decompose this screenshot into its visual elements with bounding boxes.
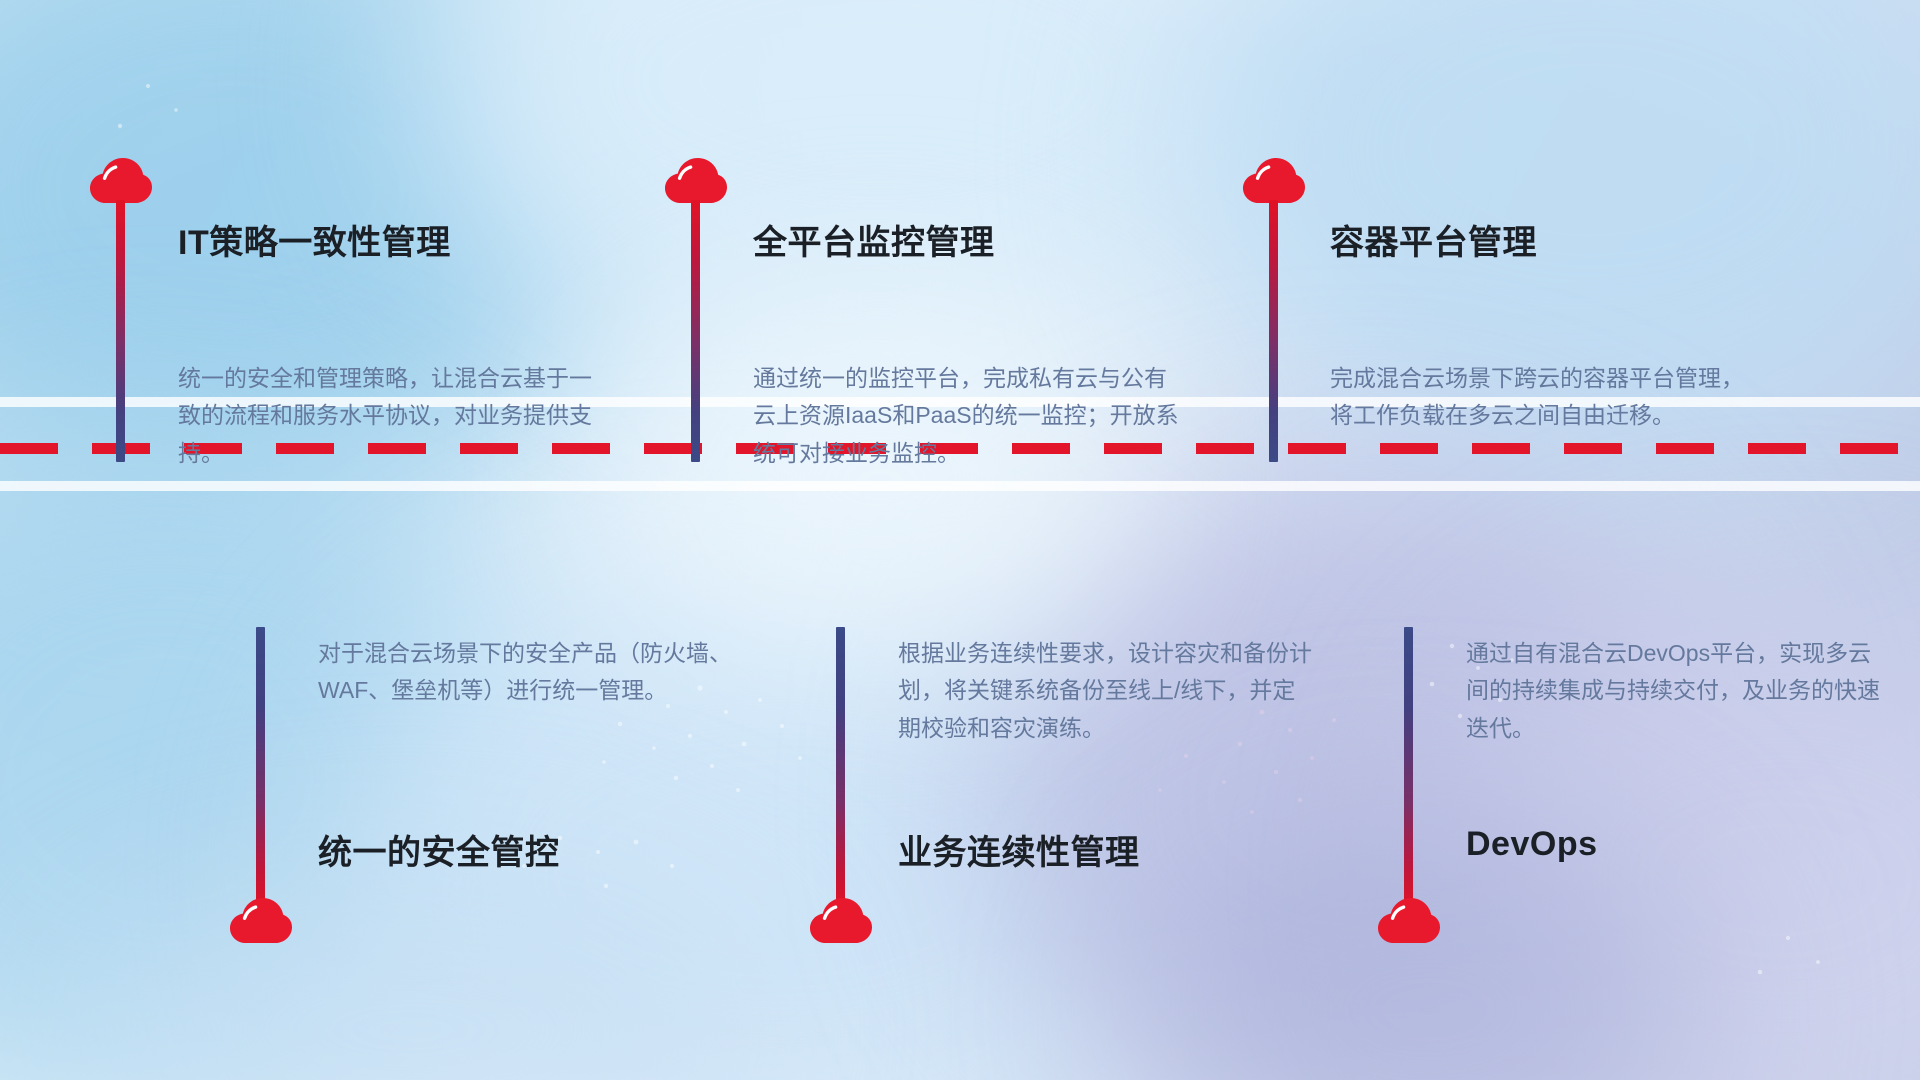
cloud-icon [230,898,292,944]
item-description: 完成混合云场景下跨云的容器平台管理，将工作负载在多云之间自由迁移。 [1330,360,1750,435]
item-title: DevOps [1466,825,1598,864]
timeline-stem [256,627,265,912]
cloud-icon [1243,158,1305,204]
item-title: 业务连续性管理 [898,825,1140,874]
timeline-stem [691,200,700,462]
divider-white-band-bottom [0,481,1920,491]
item-title: IT策略一致性管理 [178,215,451,264]
item-title: 容器平台管理 [1330,215,1537,264]
cloud-icon [1378,898,1440,944]
timeline-stem [116,200,125,462]
item-description: 统一的安全和管理策略，让混合云基于一致的流程和服务水平协议，对业务提供支持。 [178,360,598,472]
item-description: 对于混合云场景下的安全产品（防火墙、WAF、堡垒机等）进行统一管理。 [318,635,738,710]
item-description: 通过统一的监控平台，完成私有云与公有云上资源IaaS和PaaS的统一监控；开放系… [753,360,1188,472]
timeline-stem [836,627,845,912]
item-title: 统一的安全管控 [318,825,560,874]
cloud-icon [810,898,872,944]
timeline-stem [1269,200,1278,462]
item-description: 通过自有混合云DevOps平台，实现多云间的持续集成与持续交付，及业务的快速迭代… [1466,635,1886,747]
timeline-stem [1404,627,1413,912]
item-description: 根据业务连续性要求，设计容灾和备份计划，将关键系统备份至线上/线下，并定期校验和… [898,635,1318,747]
item-title: 全平台监控管理 [753,215,995,264]
cloud-icon [665,158,727,204]
cloud-icon [90,158,152,204]
